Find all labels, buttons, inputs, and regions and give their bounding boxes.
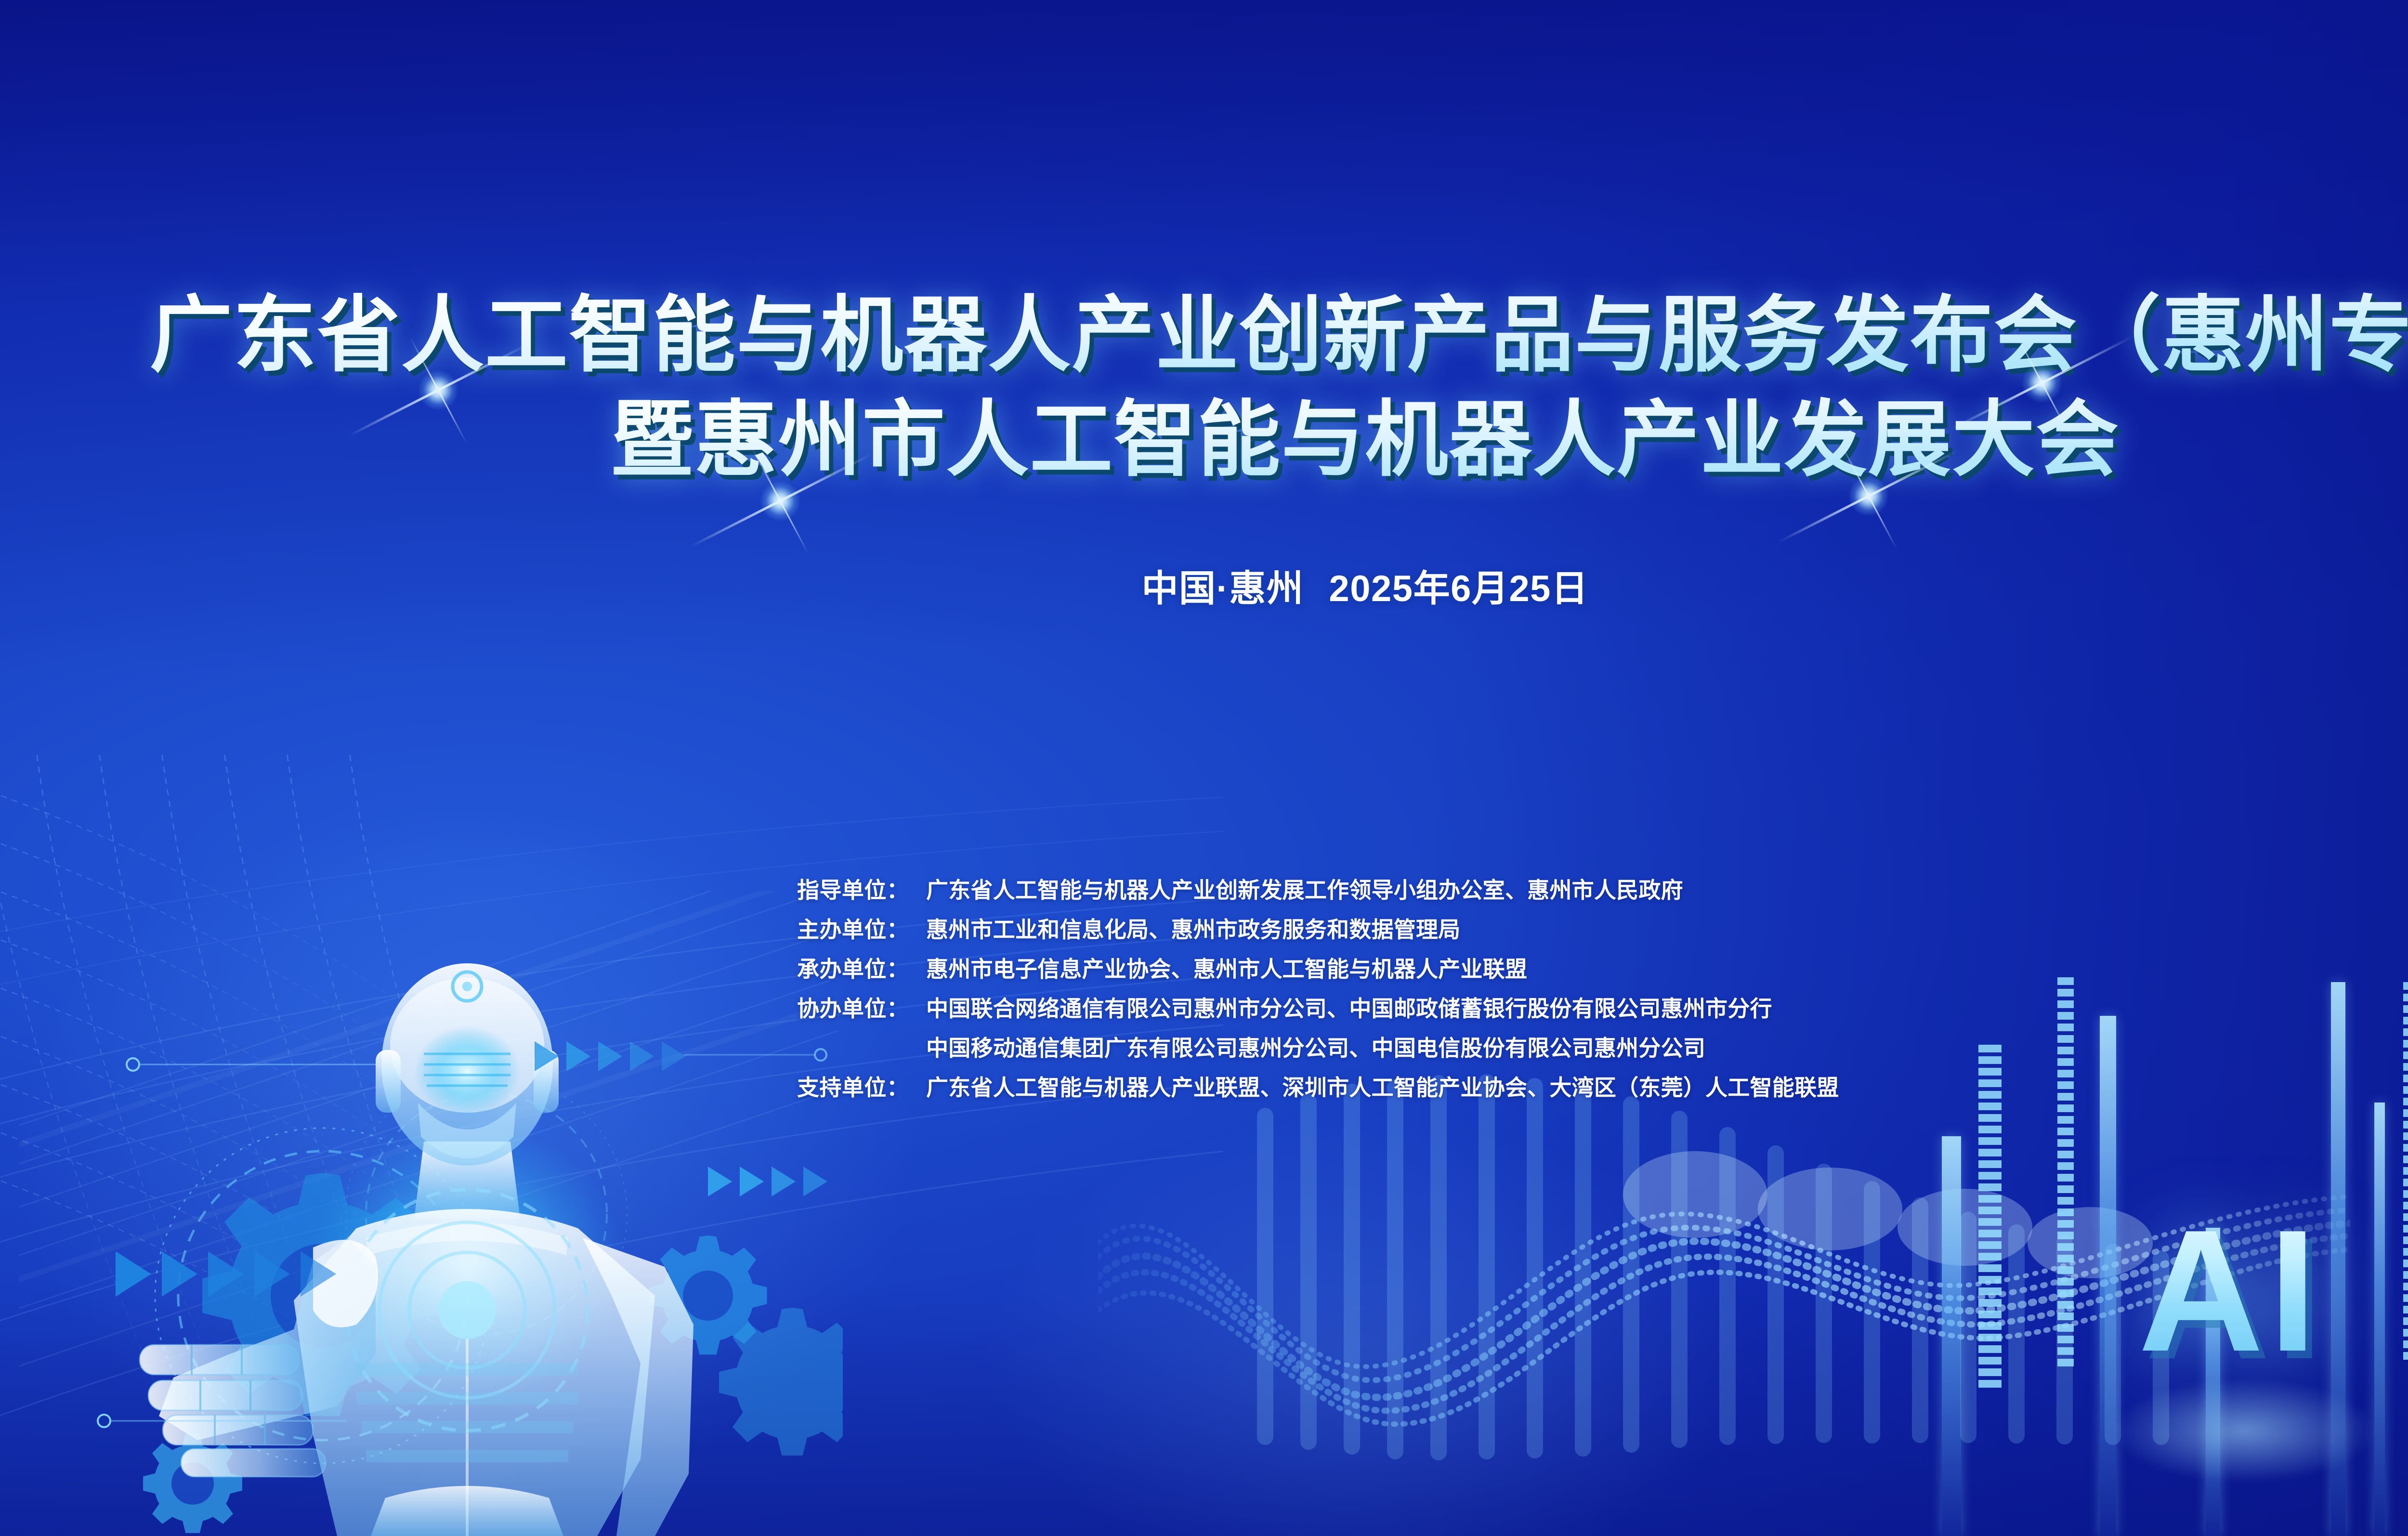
organizer-label: 主办单位： bbox=[797, 912, 926, 944]
triangle-arrow-markers-right bbox=[708, 1161, 867, 1202]
organizer-row: 主办单位：惠州市工业和信息化局、惠州市政务服务和数据管理局 bbox=[797, 912, 2242, 944]
page-title-line-1: 广东省人工智能与机器人产业创新产品与服务发布会（惠州专场） bbox=[0, 289, 2408, 382]
organizer-value: 惠州市电子信息产业协会、惠州市人工智能与机器人产业联盟 bbox=[926, 952, 1527, 984]
organizer-row: 协办单位：中国联合网络通信有限公司惠州市分公司、中国邮政储蓄银行股份有限公司惠州… bbox=[797, 991, 2242, 1023]
organizer-row: 支持单位：广东省人工智能与机器人产业联盟、深圳市人工智能产业协会、大湾区（东莞）… bbox=[797, 1070, 2242, 1102]
triangle-arrow-markers-left bbox=[116, 1243, 342, 1305]
organizer-value: 中国联合网络通信有限公司惠州市分公司、中国邮政储蓄银行股份有限公司惠州市分行 bbox=[926, 991, 1772, 1023]
connector-node-upper bbox=[125, 1055, 376, 1074]
organizer-value: 广东省人工智能与机器人产业创新发展工作领导小组办公室、惠州市人民政府 bbox=[926, 873, 1683, 905]
date-text: 2025年6月25日 bbox=[1329, 568, 1588, 609]
organizer-label: 协办单位： bbox=[797, 991, 926, 1023]
ai-wordmark-glow-secondary bbox=[2384, 1300, 2408, 1503]
humanoid-robot-figure bbox=[87, 930, 809, 1536]
subtitle-location-date: 中国·惠州2025年6月25日 bbox=[0, 559, 2408, 612]
page-title-line-2: 暨惠州市人工智能与机器人产业发展大会 bbox=[0, 394, 2408, 486]
organizer-row: 指导单位：广东省人工智能与机器人产业创新发展工作领导小组办公室、惠州市人民政府 bbox=[797, 873, 2242, 905]
connector-node-lower bbox=[96, 1411, 347, 1431]
organizer-value: 广东省人工智能与机器人产业联盟、深圳市人工智能产业协会、大湾区（东莞）人工智能联… bbox=[926, 1070, 1839, 1102]
organizer-row: 承办单位：惠州市电子信息产业协会、惠州市人工智能与机器人产业联盟 bbox=[797, 952, 2242, 984]
organizer-label: 支持单位： bbox=[797, 1070, 926, 1102]
triangle-arrow-markers-mid bbox=[535, 1036, 694, 1077]
organizer-label: 承办单位： bbox=[797, 952, 926, 984]
organizer-value: 惠州市工业和信息化局、惠州市政务服务和数据管理局 bbox=[926, 912, 1461, 944]
ai-wordmark: AI bbox=[2138, 1204, 2322, 1378]
organizer-list: 指导单位：广东省人工智能与机器人产业创新发展工作领导小组办公室、惠州市人民政府主… bbox=[797, 873, 2242, 1110]
organizer-label: 指导单位： bbox=[797, 873, 926, 905]
title-block: 广东省人工智能与机器人产业创新产品与服务发布会（惠州专场） 暨惠州市人工智能与机… bbox=[0, 289, 2408, 486]
organizer-value: 中国移动通信集团广东有限公司惠州分公司、中国电信股份有限公司惠州分公司 bbox=[926, 1031, 1705, 1063]
poster-canvas: AI 广东省人工智能与机器人产业创新产品与服务发布会（惠州专场） 暨惠州市人工智… bbox=[0, 0, 2408, 1536]
organizer-row: 协办单位：中国移动通信集团广东有限公司惠州分公司、中国电信股份有限公司惠州分公司 bbox=[797, 1031, 2242, 1063]
location-text: 中国·惠州 bbox=[1142, 568, 1304, 609]
